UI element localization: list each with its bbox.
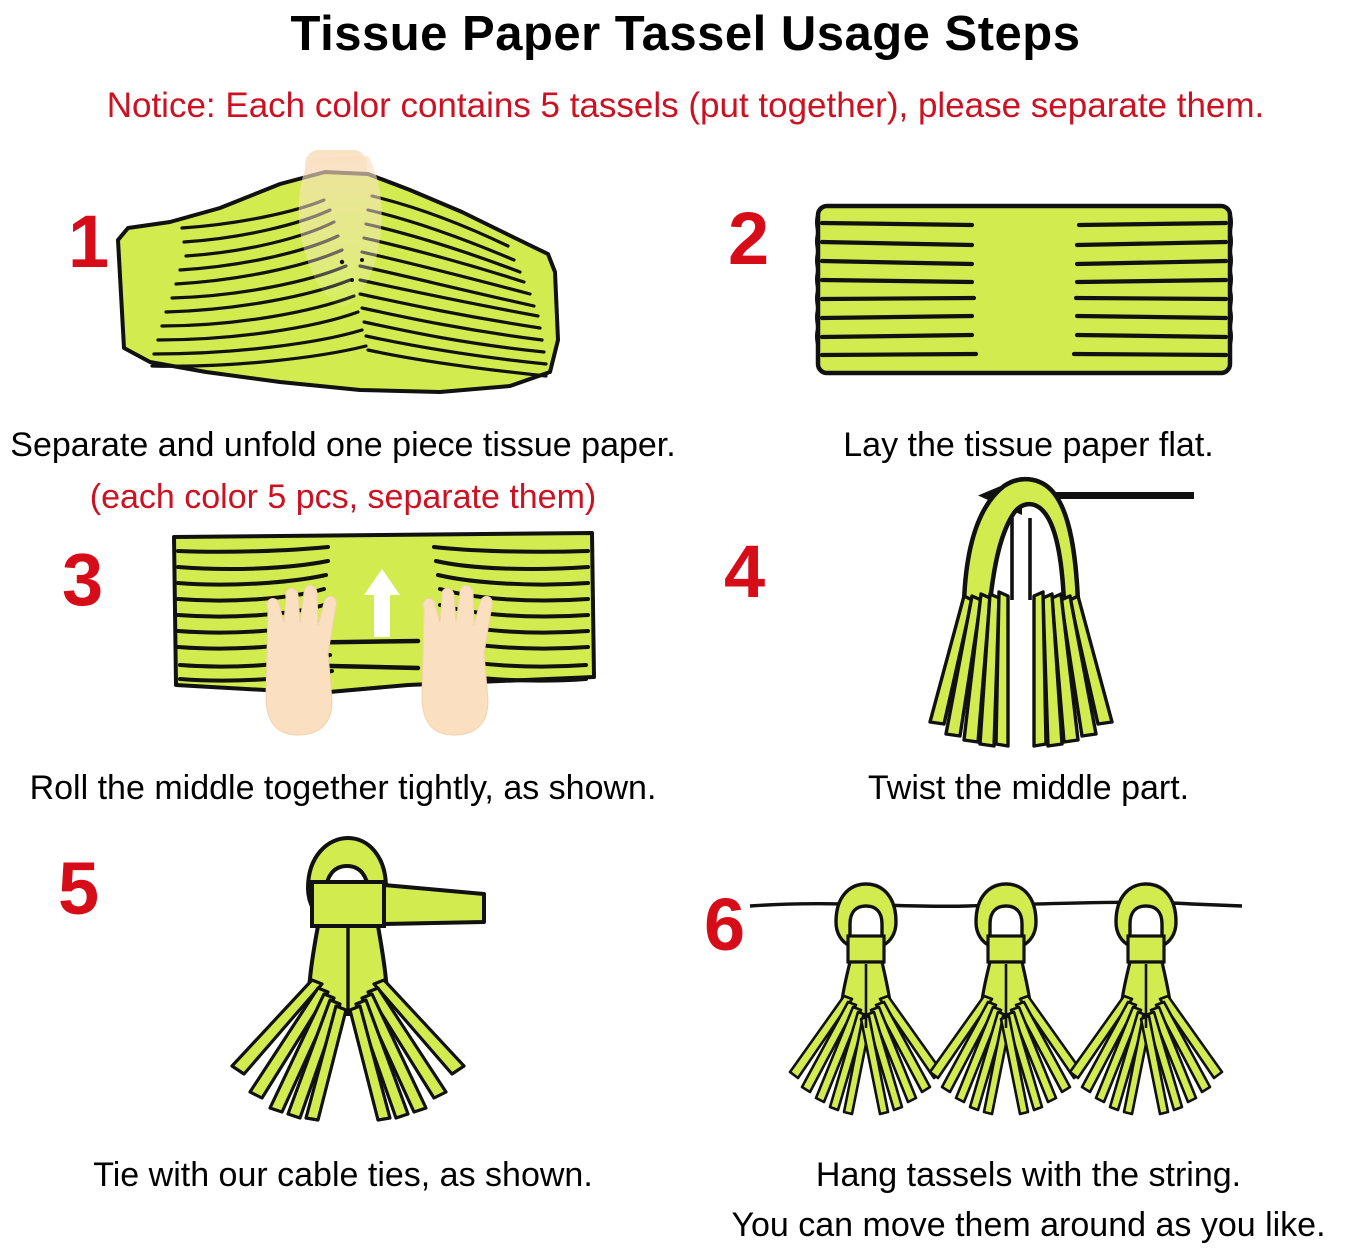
step-5-illustration-block: 5: [0, 830, 686, 1140]
step-6-caption: Hang tassels with the string.: [686, 1155, 1371, 1195]
step-1-caption-sub: (each color 5 pcs, separate them): [0, 477, 686, 517]
cable-tie-icon: [312, 882, 484, 926]
twisted-tassel-icon: [886, 470, 1186, 755]
step-3-illustration-block: 3: [0, 525, 686, 770]
rolling-hands-icon: [168, 525, 598, 755]
step-number-5: 5: [58, 852, 99, 926]
crumpled-tissue-paper-icon: [110, 150, 580, 400]
step-2-illustration-block: 2: [686, 150, 1371, 420]
tassel-with-cable-tie-icon: [200, 830, 520, 1130]
step-1-caption: Separate and unfold one piece tissue pap…: [0, 425, 686, 465]
step-5-caption: Tie with our cable ties, as shown.: [0, 1155, 686, 1195]
step-number-3: 3: [62, 543, 103, 617]
step-1-illustration-block: 1: [0, 150, 686, 420]
hanging-tassels-icon: [746, 880, 1246, 1130]
page-title: Tissue Paper Tassel Usage Steps: [0, 6, 1371, 62]
step-3-caption: Roll the middle together tightly, as sho…: [0, 768, 686, 808]
step-4-illustration-block: 4: [686, 470, 1371, 770]
step-4-caption: Twist the middle part.: [686, 768, 1371, 808]
notice-text: Notice: Each color contains 5 tassels (p…: [0, 86, 1371, 126]
step-number-2: 2: [728, 202, 769, 276]
step-number-1: 1: [68, 205, 109, 279]
step-6-caption-sub: You can move them around as you like.: [686, 1205, 1371, 1245]
step-6-illustration-block: 6: [686, 880, 1371, 1140]
step-number-4: 4: [724, 535, 765, 609]
flat-fringed-tissue-icon: [814, 202, 1234, 377]
step-number-6: 6: [704, 888, 745, 962]
step-2-caption: Lay the tissue paper flat.: [686, 425, 1371, 465]
